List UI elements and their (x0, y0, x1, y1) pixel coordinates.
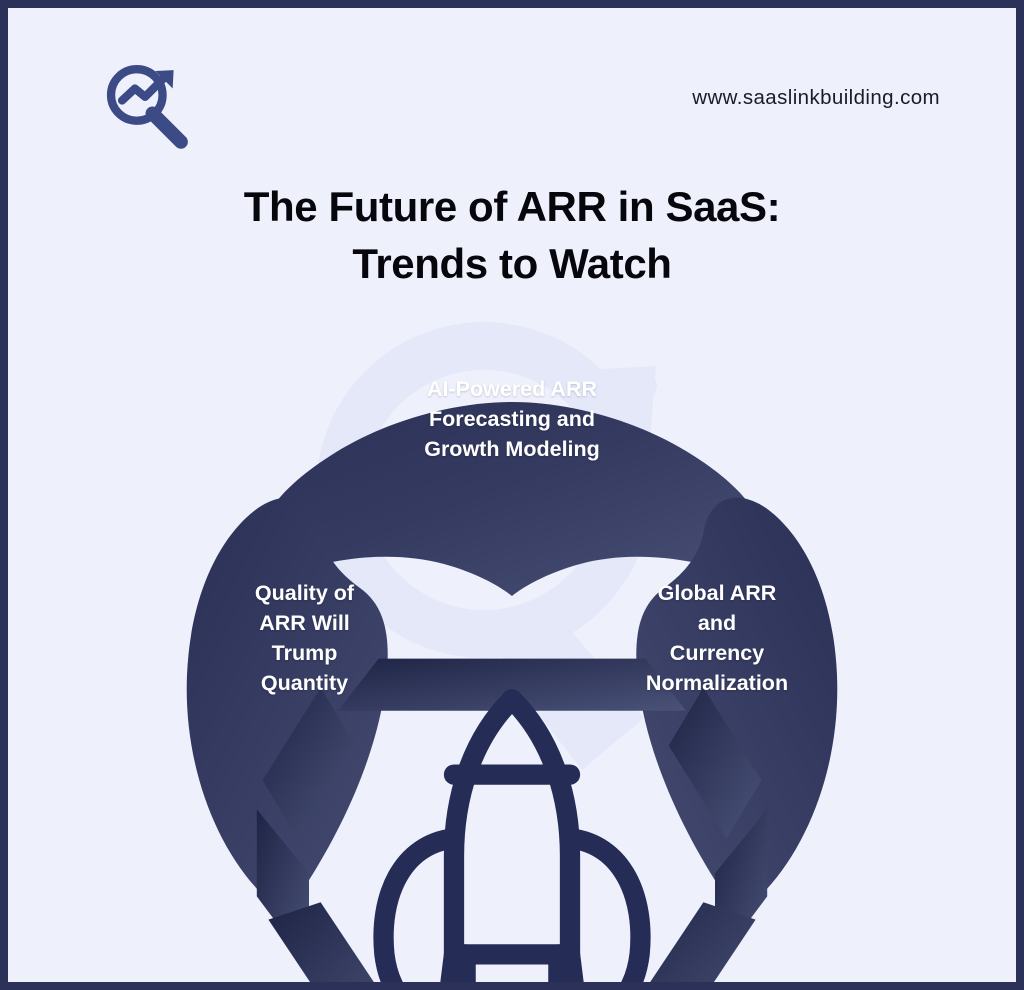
page-title-line-1: The Future of ARR in SaaS: (8, 178, 1016, 235)
petal-diagram: AI-Powered ARR Forecasting and Growth Mo… (162, 338, 862, 918)
infographic-poster: www.saaslinkbuilding.com The Future of A… (0, 0, 1024, 990)
rocket-hexagon-icon (162, 560, 862, 982)
page-title-line-2: Trends to Watch (8, 235, 1016, 292)
magnifier-growth-arrow-icon (100, 60, 192, 152)
page-title: The Future of ARR in SaaS: Trends to Wat… (8, 178, 1016, 292)
site-url: www.saaslinkbuilding.com (692, 86, 940, 110)
poster-canvas: www.saaslinkbuilding.com The Future of A… (8, 8, 1016, 982)
